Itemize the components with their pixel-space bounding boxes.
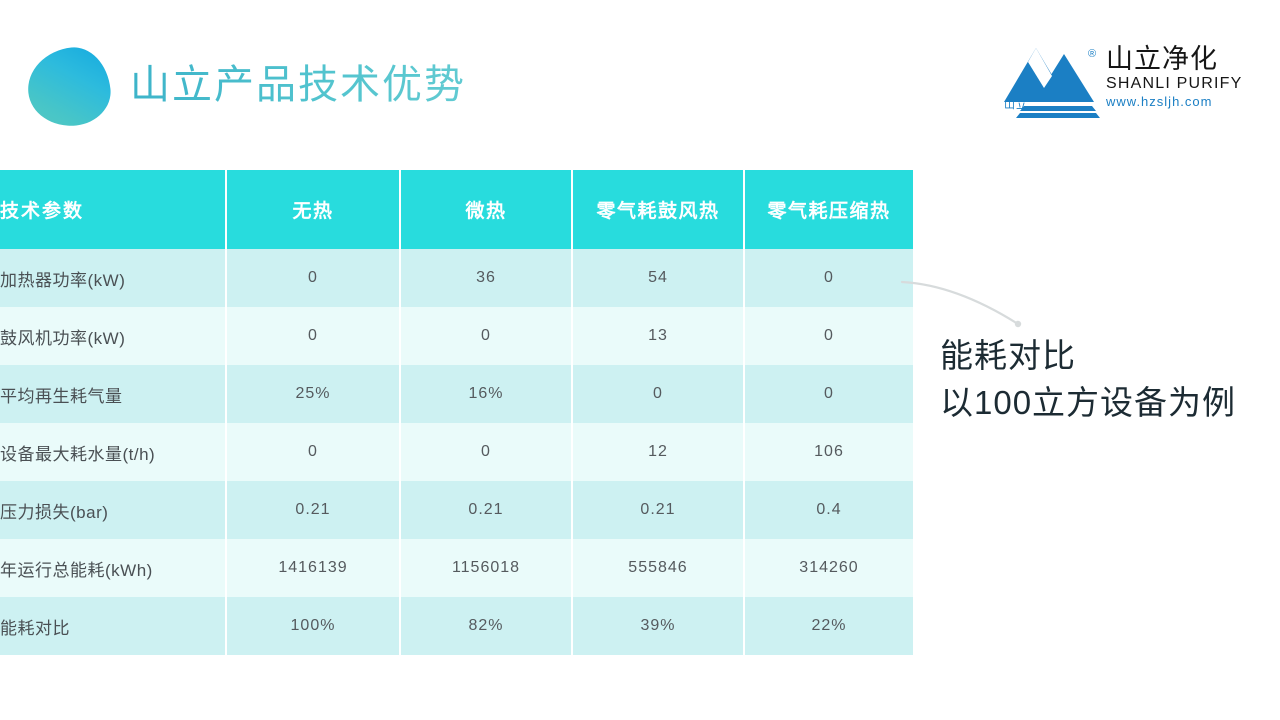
table-cell: 13 xyxy=(572,307,744,365)
table-cell: 0 xyxy=(744,365,913,423)
logo-mark-caption: 山立 xyxy=(1004,96,1028,112)
table-cell: 106 xyxy=(744,423,913,481)
table-row: 年运行总能耗(kWh) 1416139 1156018 555846 31426… xyxy=(0,539,913,597)
table-row: 加热器功率(kW) 0 36 54 0 xyxy=(0,249,913,307)
table-cell: 0 xyxy=(226,307,400,365)
logo-website-url: www.hzsljh.com xyxy=(1106,93,1226,110)
column-header-parameter: 技术参数 xyxy=(0,170,226,249)
table-cell: 0 xyxy=(226,423,400,481)
table-cell: 0.4 xyxy=(744,481,913,539)
table-header: 技术参数 无热 微热 零气耗鼓风热 零气耗压缩热 xyxy=(0,170,913,249)
row-label: 年运行总能耗(kWh) xyxy=(0,539,226,597)
row-label: 设备最大耗水量(t/h) xyxy=(0,423,226,481)
table-cell: 0 xyxy=(400,307,572,365)
page-title: 山立产品技术优势 xyxy=(130,57,466,113)
table-header-row: 技术参数 无热 微热 零气耗鼓风热 零气耗压缩热 xyxy=(0,170,913,249)
table-cell: 54 xyxy=(572,249,744,307)
table-row: 平均再生耗气量 25% 16% 0 0 xyxy=(0,365,913,423)
column-header-blower: 零气耗鼓风热 xyxy=(572,170,744,249)
table-row: 鼓风机功率(kW) 0 0 13 0 xyxy=(0,307,913,365)
table-cell: 0 xyxy=(744,307,913,365)
table-cell: 314260 xyxy=(744,539,913,597)
table-cell: 39% xyxy=(572,597,744,655)
table-cell: 36 xyxy=(400,249,572,307)
table-cell: 0.21 xyxy=(226,481,400,539)
column-header-weire: 微热 xyxy=(400,170,572,249)
column-header-wure: 无热 xyxy=(226,170,400,249)
slide-root: 山立产品技术优势 ® 山立 山立净化 SHANLI PURIFY www.hzs… xyxy=(0,0,1280,720)
logo-text-block: 山立净化 SHANLI PURIFY www.hzsljh.com xyxy=(1106,44,1226,110)
table-cell: 1156018 xyxy=(400,539,572,597)
table-cell: 100% xyxy=(226,597,400,655)
table-cell: 22% xyxy=(744,597,913,655)
row-label: 压力损失(bar) xyxy=(0,481,226,539)
table-row: 压力损失(bar) 0.21 0.21 0.21 0.4 xyxy=(0,481,913,539)
parameter-table-wrapper: 技术参数 无热 微热 零气耗鼓风热 零气耗压缩热 加热器功率(kW) 0 36 … xyxy=(0,170,913,655)
row-label: 加热器功率(kW) xyxy=(0,249,226,307)
table-cell: 0 xyxy=(226,249,400,307)
logo-name-cn: 山立净化 xyxy=(1106,44,1226,74)
registered-trademark-icon: ® xyxy=(1088,48,1096,60)
logo-name-en: SHANLI PURIFY xyxy=(1106,74,1226,93)
column-header-compress: 零气耗压缩热 xyxy=(744,170,913,249)
callout-line-2: 以100立方设备为例 xyxy=(940,379,1236,426)
curved-arrow-icon xyxy=(900,262,1040,342)
table-cell: 25% xyxy=(226,365,400,423)
row-label: 平均再生耗气量 xyxy=(0,365,226,423)
table-cell: 0 xyxy=(744,249,913,307)
table-cell: 1416139 xyxy=(226,539,400,597)
table-row: 能耗对比 100% 82% 39% 22% xyxy=(0,597,913,655)
table-body: 加热器功率(kW) 0 36 54 0 鼓风机功率(kW) 0 0 13 0 平… xyxy=(0,249,913,655)
table-cell: 12 xyxy=(572,423,744,481)
table-row: 设备最大耗水量(t/h) 0 0 12 106 xyxy=(0,423,913,481)
company-logo: ® 山立 山立净化 SHANLI PURIFY www.hzsljh.com xyxy=(1002,40,1222,122)
table-cell: 0 xyxy=(400,423,572,481)
row-label: 鼓风机功率(kW) xyxy=(0,307,226,365)
parameter-table: 技术参数 无热 微热 零气耗鼓风热 零气耗压缩热 加热器功率(kW) 0 36 … xyxy=(0,170,913,655)
table-cell: 555846 xyxy=(572,539,744,597)
callout-line-1: 能耗对比 xyxy=(940,332,1236,379)
table-cell: 0 xyxy=(572,365,744,423)
table-cell: 82% xyxy=(400,597,572,655)
blob-shape-icon xyxy=(24,44,114,130)
row-label: 能耗对比 xyxy=(0,597,226,655)
table-cell: 0.21 xyxy=(400,481,572,539)
callout-text: 能耗对比 以100立方设备为例 xyxy=(940,332,1236,426)
table-cell: 0.21 xyxy=(572,481,744,539)
table-cell: 16% xyxy=(400,365,572,423)
